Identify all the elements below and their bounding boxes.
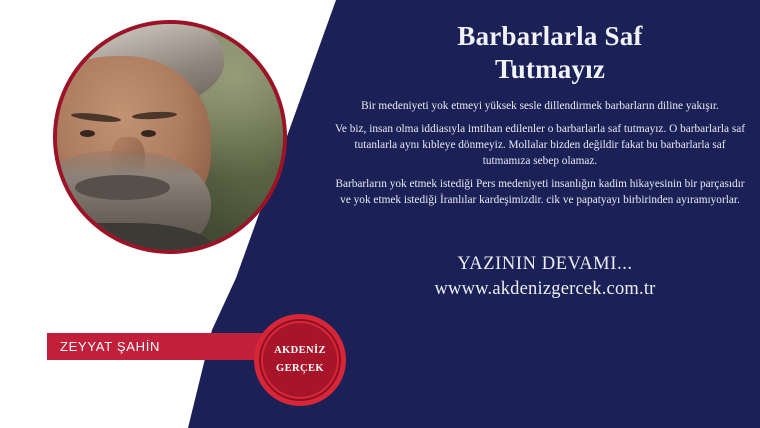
quote-paragraph: Ve biz, insan olma iddiasıyla imtihan ed… <box>330 121 750 169</box>
call-to-action: YAZININ DEVAMI... wwww.akdenizgercek.com… <box>380 254 710 300</box>
quote-paragraph: Barbarların yok etmek istediği Pers mede… <box>330 176 750 208</box>
portrait-photo <box>57 24 283 250</box>
social-media-quote-card: Barbarlarla Saf Tutmayız Bir medeniyeti … <box>0 0 760 428</box>
logo-line-1: AKDENİZ <box>274 342 326 360</box>
author-portrait-avatar <box>53 20 287 254</box>
headline-line-1: Barbarlarla Saf <box>360 20 740 53</box>
quote-body: Bir medeniyeti yok etmeyi yüksek sesle d… <box>330 98 750 208</box>
logo-text: AKDENİZ GERÇEK <box>274 342 326 378</box>
quote-paragraph: Bir medeniyeti yok etmeyi yüksek sesle d… <box>330 98 750 114</box>
author-name-label: ZEYYAT ŞAHİN <box>47 339 160 354</box>
portrait-eye-right <box>141 130 156 137</box>
portrait-eye-left <box>80 130 95 137</box>
logo-line-2: GERÇEK <box>274 360 326 378</box>
akdeniz-gercek-logo-badge[interactable]: AKDENİZ GERÇEK <box>254 314 346 406</box>
headline: Barbarlarla Saf Tutmayız <box>360 20 740 87</box>
headline-line-2: Tutmayız <box>360 53 740 86</box>
read-more-label: YAZININ DEVAMI... <box>380 254 710 275</box>
website-url[interactable]: wwww.akdenizgercek.com.tr <box>380 279 710 300</box>
